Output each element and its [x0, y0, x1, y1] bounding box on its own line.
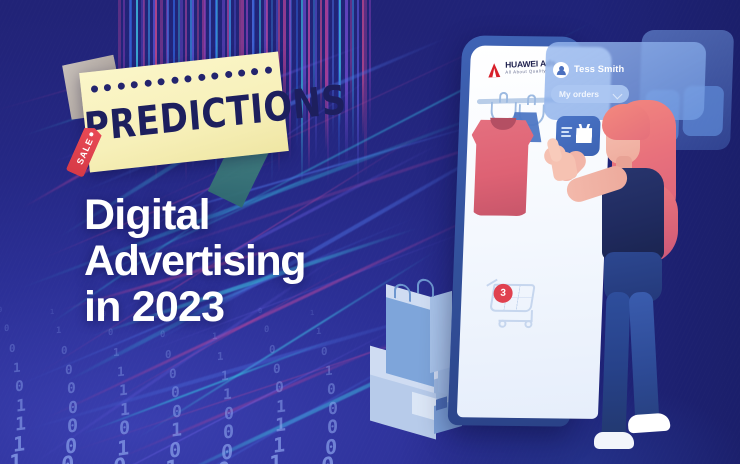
note-dot: [157, 77, 165, 85]
leg-left: [601, 292, 630, 441]
headline-line-2: Advertising: [84, 238, 414, 284]
note-dot: [117, 82, 125, 90]
shopping-bag-body: [386, 297, 434, 387]
note-dot: [264, 66, 272, 74]
headline-line-1: Digital: [84, 192, 414, 238]
note-dot: [184, 75, 192, 83]
note-dot: [144, 79, 152, 87]
hanger-hook-icon: [499, 92, 508, 103]
promo-banner: 0101001010010100101001010101001010010100…: [0, 0, 740, 464]
note-dot: [104, 83, 112, 91]
avatar-body: [556, 70, 565, 75]
note-dot: [224, 70, 232, 78]
shopping-cart-icon: 3: [486, 282, 544, 331]
shoe-left: [594, 432, 634, 449]
note-dot: [131, 80, 139, 88]
sale-tag-hole: [89, 132, 94, 137]
note-dot: [91, 85, 99, 93]
shoe-right: [627, 413, 670, 434]
note-dot: [171, 76, 179, 84]
user-name: Tess Smith: [574, 63, 625, 74]
woman-illustration: [588, 96, 708, 464]
hair-front: [602, 104, 650, 140]
hanger-hook-icon: [527, 94, 536, 105]
pink-shirt: [469, 119, 535, 216]
page-title: Digital Advertising in 2023: [84, 192, 414, 330]
hand-finger: [546, 137, 563, 163]
headline-line-3: in 2023: [84, 284, 414, 330]
note-dot: [198, 73, 206, 81]
huawei-petal-icon: [488, 63, 501, 78]
note-dot: [251, 67, 259, 75]
cart-wheel: [498, 320, 506, 328]
predictions-note: PREDICTIONS: [60, 46, 350, 186]
cart-wheel: [524, 320, 532, 328]
note-dot: [238, 69, 246, 77]
note-dot: [211, 72, 219, 80]
kicker-text: PREDICTIONS: [83, 83, 286, 152]
shopping-bag-side: [430, 291, 452, 373]
leg-right: [629, 291, 660, 424]
menu-lines-icon: [561, 127, 572, 139]
pointing-hand: [546, 140, 580, 180]
